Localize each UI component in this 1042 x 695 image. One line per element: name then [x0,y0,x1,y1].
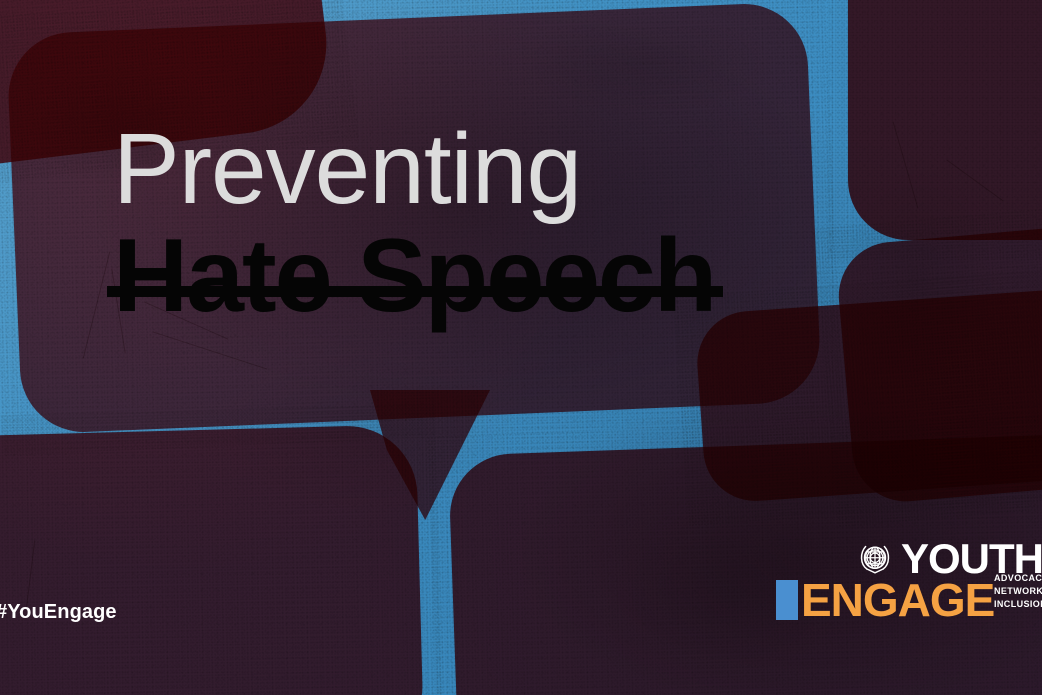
logo-tagline-networking: NETWORKING [994,585,1042,598]
speech-bubble-bottom-left [0,424,424,695]
logo-tagline-block: ADVOCACY NETWORKING INCLUSION [994,572,1042,611]
hashtag-label: #YouEngage [0,601,117,624]
un-emblem-icon [855,539,895,579]
poster-canvas: Preventing Hate Speech #YouEngage [0,0,1042,695]
headline-strikethrough-group: Hate Speech [113,224,715,328]
bubble-grain-texture [0,404,445,695]
youth-engage-logo: YOUTH ENGAGE ADVOCACY NETWORKING INCLUSI… [776,538,1042,618]
headline-line-hate-speech: Hate Speech [113,224,715,328]
logo-blue-square-mark [776,580,798,620]
logo-bottom-row: ENGAGE [776,577,994,623]
speech-bubble-right-band [834,218,1042,506]
logo-word-engage: ENGAGE [801,577,994,623]
headline-block: Preventing Hate Speech [113,118,715,328]
logo-tagline-advocacy: ADVOCACY [994,572,1042,585]
logo-tagline-inclusion: INCLUSION [994,598,1042,611]
speech-bubble-top-right [848,0,1042,240]
strikethrough-line [107,286,723,297]
headline-line-preventing: Preventing [113,118,715,220]
